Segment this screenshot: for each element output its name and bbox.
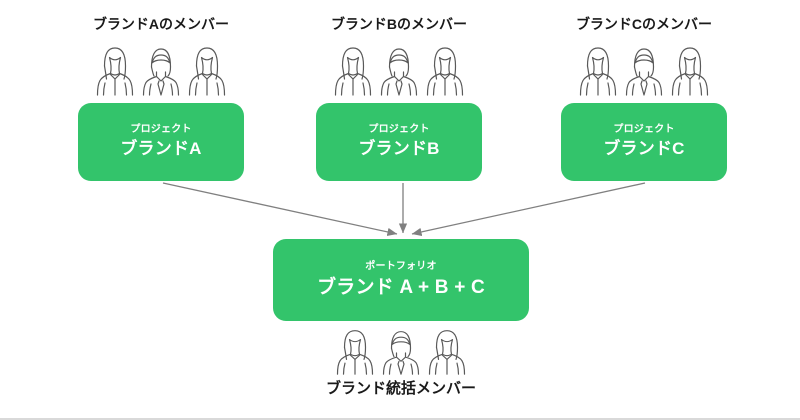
person-icon-male <box>378 327 424 377</box>
project-box-brand-b[interactable]: プロジェクト ブランドB <box>316 103 482 181</box>
arrow-brand-a-to-portfolio <box>163 183 397 234</box>
portfolio-members-caption: ブランド統括メンバー <box>273 377 529 398</box>
people-group-brand-c <box>561 44 727 98</box>
person-icon-female <box>424 327 470 377</box>
person-icon-female <box>92 44 138 98</box>
project-box-brand-c[interactable]: プロジェクト ブランドC <box>561 103 727 181</box>
people-group-brand-b <box>316 44 482 98</box>
project-box-title: ブランドC <box>603 139 684 159</box>
person-icon-female <box>575 44 621 98</box>
person-icon-male <box>138 44 184 98</box>
project-box-sublabel: プロジェクト <box>130 124 191 136</box>
column-header-brand-c: ブランドCのメンバー <box>561 14 727 34</box>
project-box-sublabel: プロジェクト <box>613 124 674 136</box>
column-header-brand-b: ブランドBのメンバー <box>316 14 482 34</box>
project-box-sublabel: プロジェクト <box>368 124 429 136</box>
person-icon-female <box>330 44 376 98</box>
arrow-brand-c-to-portfolio <box>412 183 645 234</box>
portfolio-box-title: ブランド A + B + C <box>317 277 485 300</box>
person-icon-female <box>184 44 230 98</box>
person-icon-male <box>376 44 422 98</box>
column-header-brand-a: ブランドAのメンバー <box>78 14 244 34</box>
person-icon-female <box>667 44 713 98</box>
person-icon-female <box>422 44 468 98</box>
portfolio-box-sublabel: ポートフォリオ <box>365 261 436 273</box>
person-icon-female <box>332 327 378 377</box>
people-group-portfolio <box>318 327 484 377</box>
project-box-title: ブランドB <box>358 139 439 159</box>
project-box-brand-a[interactable]: プロジェクト ブランドA <box>78 103 244 181</box>
person-icon-male <box>621 44 667 98</box>
diagram-canvas: ブランドAのメンバー <box>0 0 800 420</box>
portfolio-box[interactable]: ポートフォリオ ブランド A + B + C <box>273 239 529 321</box>
project-box-title: ブランドA <box>120 139 201 159</box>
people-group-brand-a <box>78 44 244 98</box>
